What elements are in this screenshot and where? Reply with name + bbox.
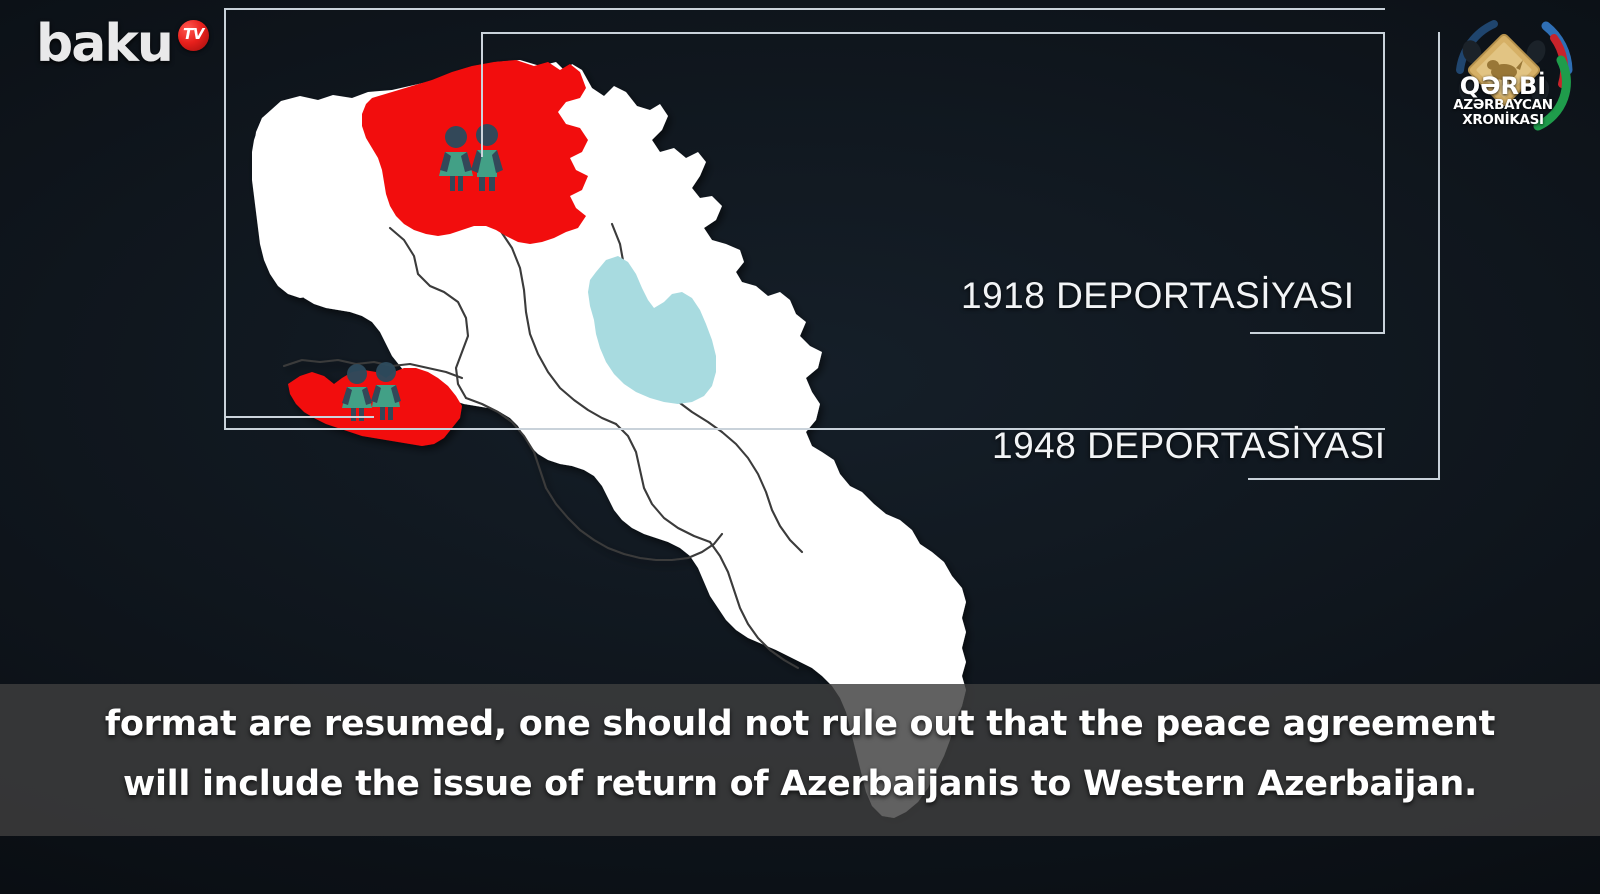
callout-label-1918: 1918 DEPORTASİYASI bbox=[961, 275, 1355, 317]
callout-underline-1948 bbox=[1248, 478, 1440, 480]
program-logo-line3: XRONİKASI bbox=[1428, 114, 1578, 128]
callout-leader-line-1918 bbox=[481, 32, 483, 157]
callout-underline-1918 bbox=[1250, 332, 1385, 334]
subtitle-line-1: format are resumed, one should not rule … bbox=[0, 694, 1600, 754]
program-logo: QƏRBİ AZƏRBAYCAN XRONİKASI bbox=[1428, 8, 1578, 158]
tv-badge-label: TV bbox=[183, 27, 204, 42]
baku-tv-logo: baku TV bbox=[36, 18, 209, 70]
subtitle-line-2: will include the issue of return of Azer… bbox=[0, 754, 1600, 814]
callout-frame-1918-right-edge bbox=[1383, 32, 1385, 334]
callout-frame-1918-inner-top bbox=[481, 32, 1385, 34]
callout-leader-line-1948 bbox=[224, 416, 374, 418]
program-logo-line2: AZƏRBAYCAN bbox=[1428, 99, 1578, 113]
tv-badge-icon: TV bbox=[178, 20, 209, 51]
baku-wordmark: baku bbox=[36, 18, 172, 70]
subtitle-text: format are resumed, one should not rule … bbox=[0, 694, 1600, 814]
program-logo-text: QƏRBİ AZƏRBAYCAN XRONİKASI bbox=[1428, 74, 1578, 127]
video-frame: 1918 DEPORTASİYASI 1948 DEPORTASİYASI ba… bbox=[0, 0, 1600, 894]
program-logo-line1: QƏRBİ bbox=[1428, 74, 1578, 98]
callout-label-1948: 1948 DEPORTASİYASI bbox=[992, 425, 1386, 467]
